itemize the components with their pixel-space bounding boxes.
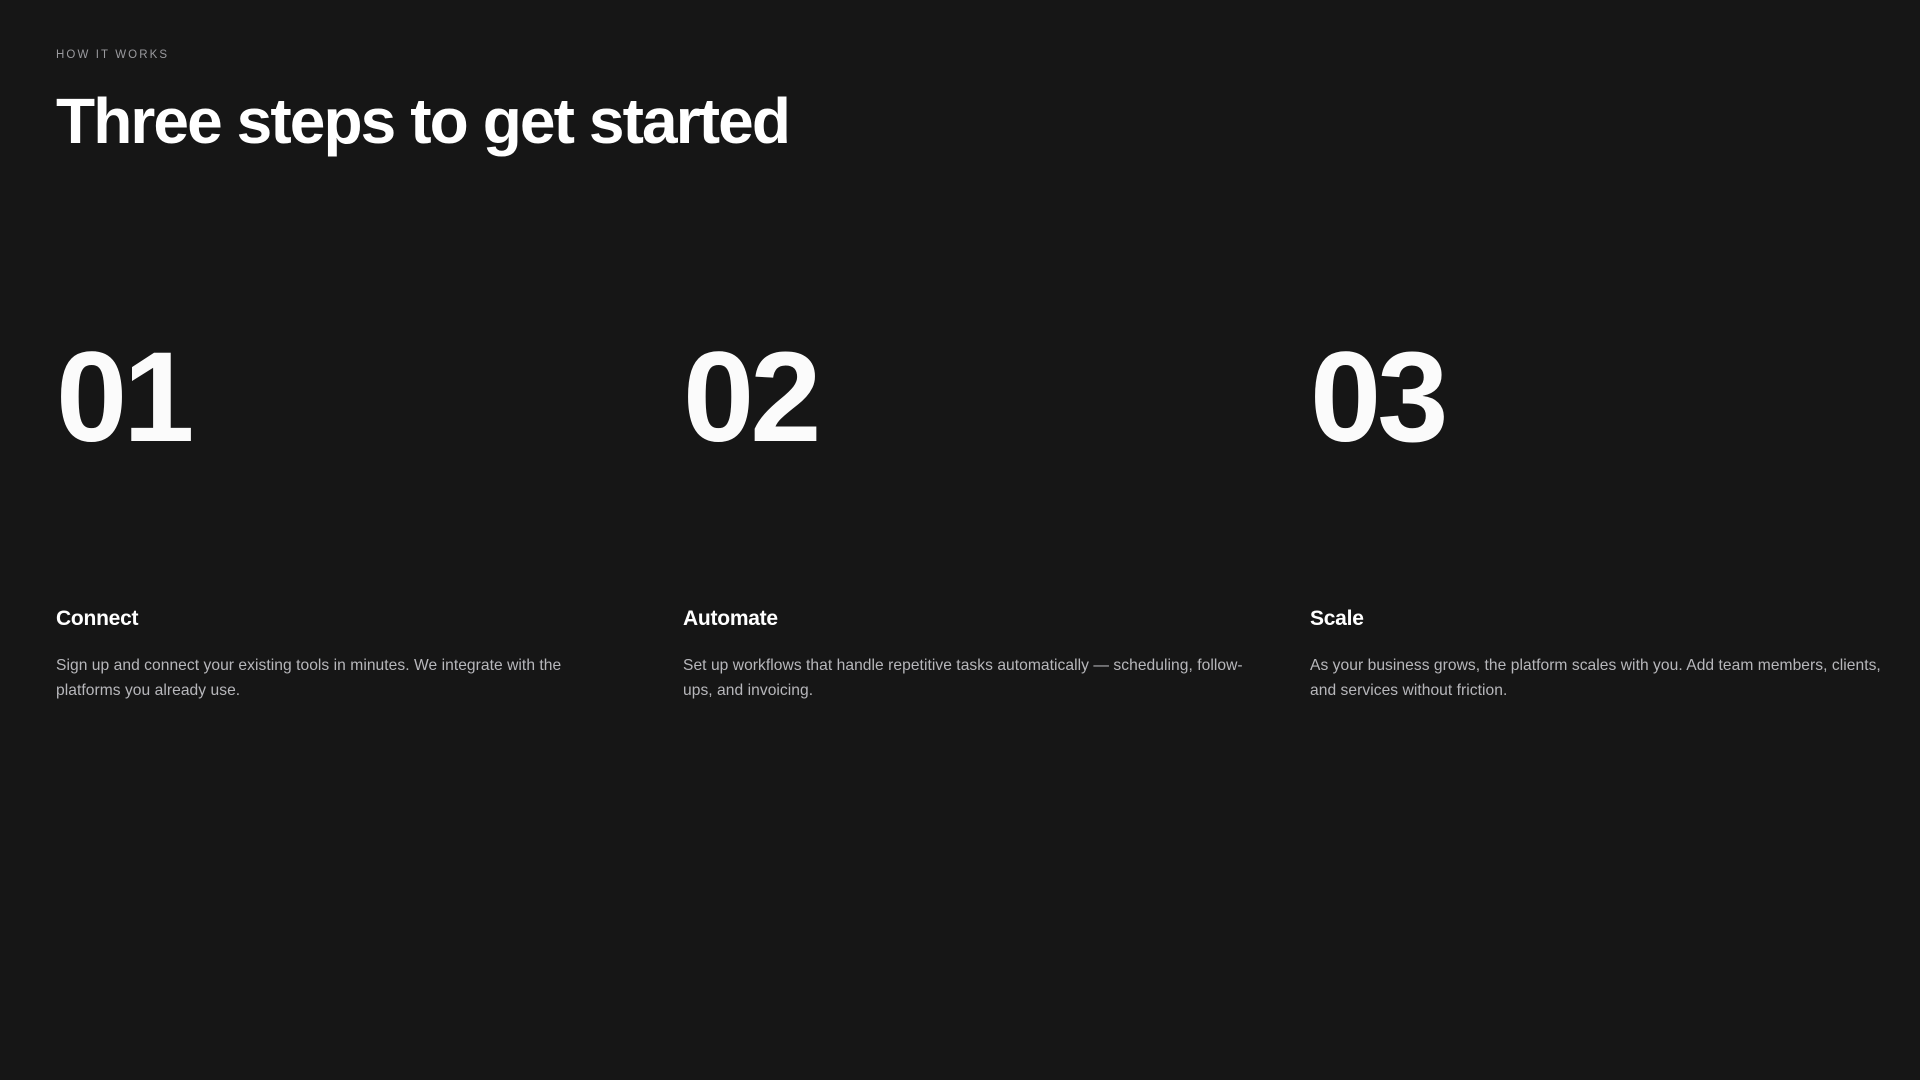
page-title: Three steps to get started [56, 88, 1456, 155]
step-description-connect: Sign up and connect your existing tools … [56, 653, 628, 703]
step-title-automate: Automate [683, 606, 1290, 632]
section-eyebrow: HOW IT WORKS [56, 48, 1456, 62]
step-card-03: 03 Scale As your business grows, the pla… [1310, 340, 1917, 703]
step-number-01: 01 [56, 340, 663, 466]
step-body-02: Automate Set up workflows that handle re… [683, 606, 1290, 703]
how-it-works-section: HOW IT WORKS Three steps to get started … [0, 0, 1920, 1080]
step-title-connect: Connect [56, 606, 663, 632]
step-card-02: 02 Automate Set up workflows that handle… [683, 340, 1290, 703]
step-description-scale: As your business grows, the platform sca… [1310, 653, 1890, 703]
step-card-01: 01 Connect Sign up and connect your exis… [56, 340, 663, 703]
section-header: HOW IT WORKS Three steps to get started [56, 48, 1456, 155]
step-body-01: Connect Sign up and connect your existin… [56, 606, 663, 703]
steps-grid: 01 Connect Sign up and connect your exis… [56, 340, 1864, 703]
step-title-scale: Scale [1310, 606, 1917, 632]
step-number-02: 02 [683, 340, 1290, 466]
step-description-automate: Set up workflows that handle repetitive … [683, 653, 1263, 703]
step-body-03: Scale As your business grows, the platfo… [1310, 606, 1917, 703]
step-number-03: 03 [1310, 340, 1917, 466]
